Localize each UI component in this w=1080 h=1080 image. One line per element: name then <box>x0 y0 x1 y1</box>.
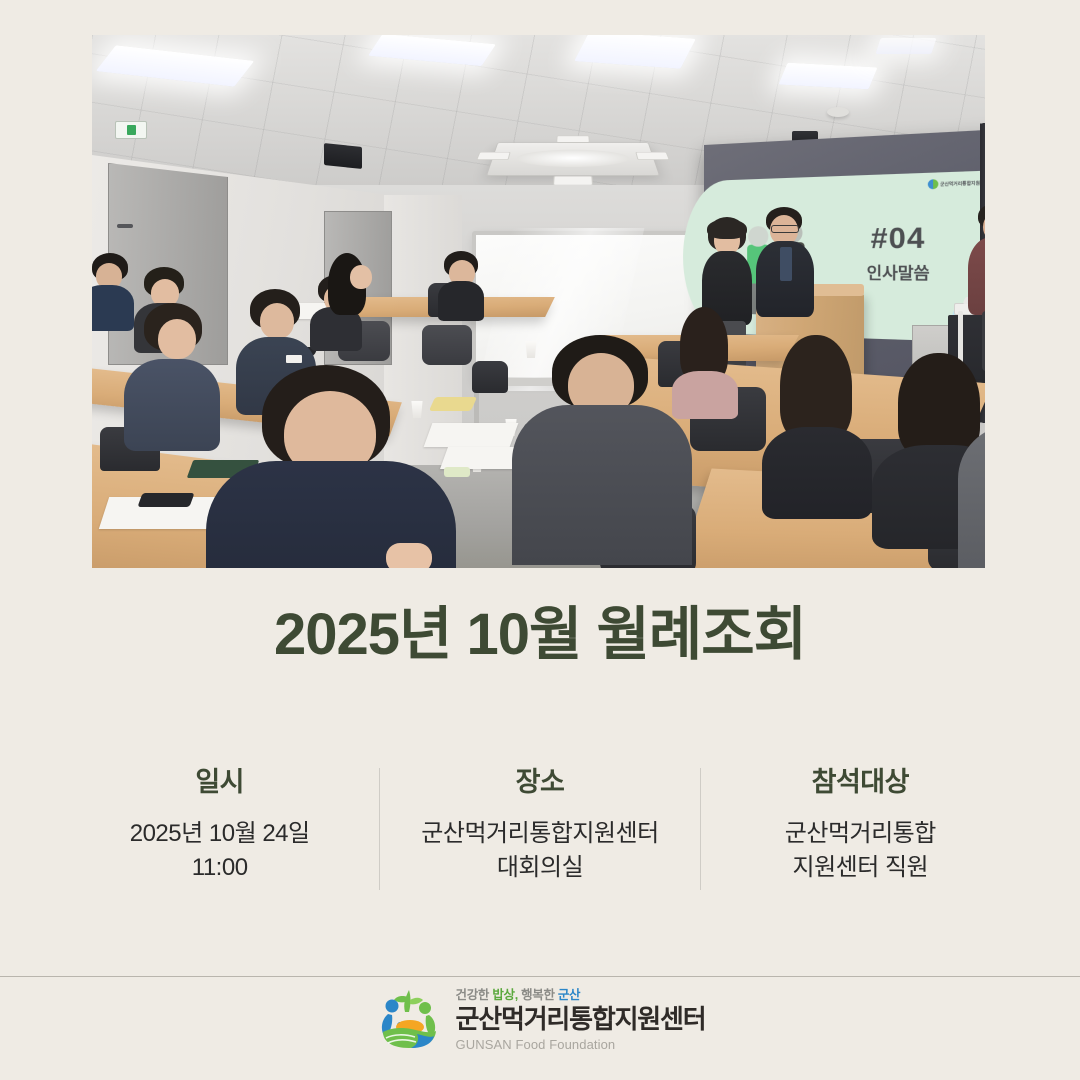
info-column-place: 장소 군산먹거리통합지원센터 대회의실 <box>380 760 699 885</box>
smartphone <box>137 493 194 507</box>
footer-divider <box>0 976 1080 977</box>
wall-speaker <box>324 143 362 169</box>
snack-plate <box>429 397 477 411</box>
tagline-part-1: 건강한 <box>456 988 493 1002</box>
info-column-attendees: 참석대상 군산먹거리통합 지원센터 직원 <box>701 760 1020 885</box>
info-line: 군산먹거리통합지원센터 <box>386 817 693 851</box>
info-line: 2025년 10월 24일 <box>66 817 373 851</box>
footer-logo-block: 건강한 밥상, 행복한 군산 군산먹거리통합지원센터 GUNSAN Food F… <box>0 984 1080 1052</box>
snack-plate <box>444 467 470 477</box>
smoke-detector <box>827 107 849 117</box>
tagline-part-2: 밥상, <box>492 988 518 1002</box>
foundation-tagline: 건강한 밥상, 행복한 군산 <box>456 984 706 1003</box>
info-section: 일시 2025년 10월 24일 11:00 장소 군산먹거리통합지원센터 대회… <box>60 760 1020 890</box>
organization-name-english: GUNSAN Food Foundation <box>456 1037 706 1052</box>
slide-logo: 군산먹거리통합지원센터 <box>927 177 985 189</box>
info-heading: 일시 <box>66 760 373 799</box>
ceiling-light <box>778 63 877 90</box>
info-column-datetime: 일시 2025년 10월 24일 11:00 <box>60 760 379 885</box>
info-line: 11:00 <box>66 851 373 885</box>
foundation-logo-icon <box>375 984 443 1052</box>
slide-logo-text: 군산먹거리통합지원센터 <box>940 179 985 187</box>
slide-subtitle: 인사말씀 <box>826 261 975 285</box>
organization-name: 군산먹거리통합지원센터 <box>456 1005 706 1034</box>
info-line: 대회의실 <box>386 851 693 885</box>
exit-sign <box>115 121 147 139</box>
foundation-logo-text: 건강한 밥상, 행복한 군산 군산먹거리통합지원센터 GUNSAN Food F… <box>456 984 706 1052</box>
info-heading: 참석대상 <box>707 760 1014 799</box>
info-line: 군산먹거리통합 <box>707 817 1014 851</box>
info-heading: 장소 <box>386 760 693 799</box>
slide-number: #04 <box>826 221 975 256</box>
document-paper <box>424 423 519 447</box>
poster-title: 2025년 10월 월례조회 <box>0 600 1080 670</box>
tagline-part-3: 행복한 <box>518 988 558 1002</box>
slide-logo-icon <box>927 179 938 189</box>
chair <box>422 325 472 365</box>
meeting-room-scene: 군산먹거리통합지원센터 #04 인사말씀 2025 <box>92 35 985 568</box>
info-line: 지원센터 직원 <box>707 851 1014 885</box>
event-photo: 군산먹거리통합지원센터 #04 인사말씀 2025 <box>92 35 985 568</box>
chair <box>472 361 508 393</box>
air-conditioner-diffuser <box>486 142 660 175</box>
ceiling-light <box>875 38 936 54</box>
tagline-part-4: 군산 <box>558 988 580 1002</box>
